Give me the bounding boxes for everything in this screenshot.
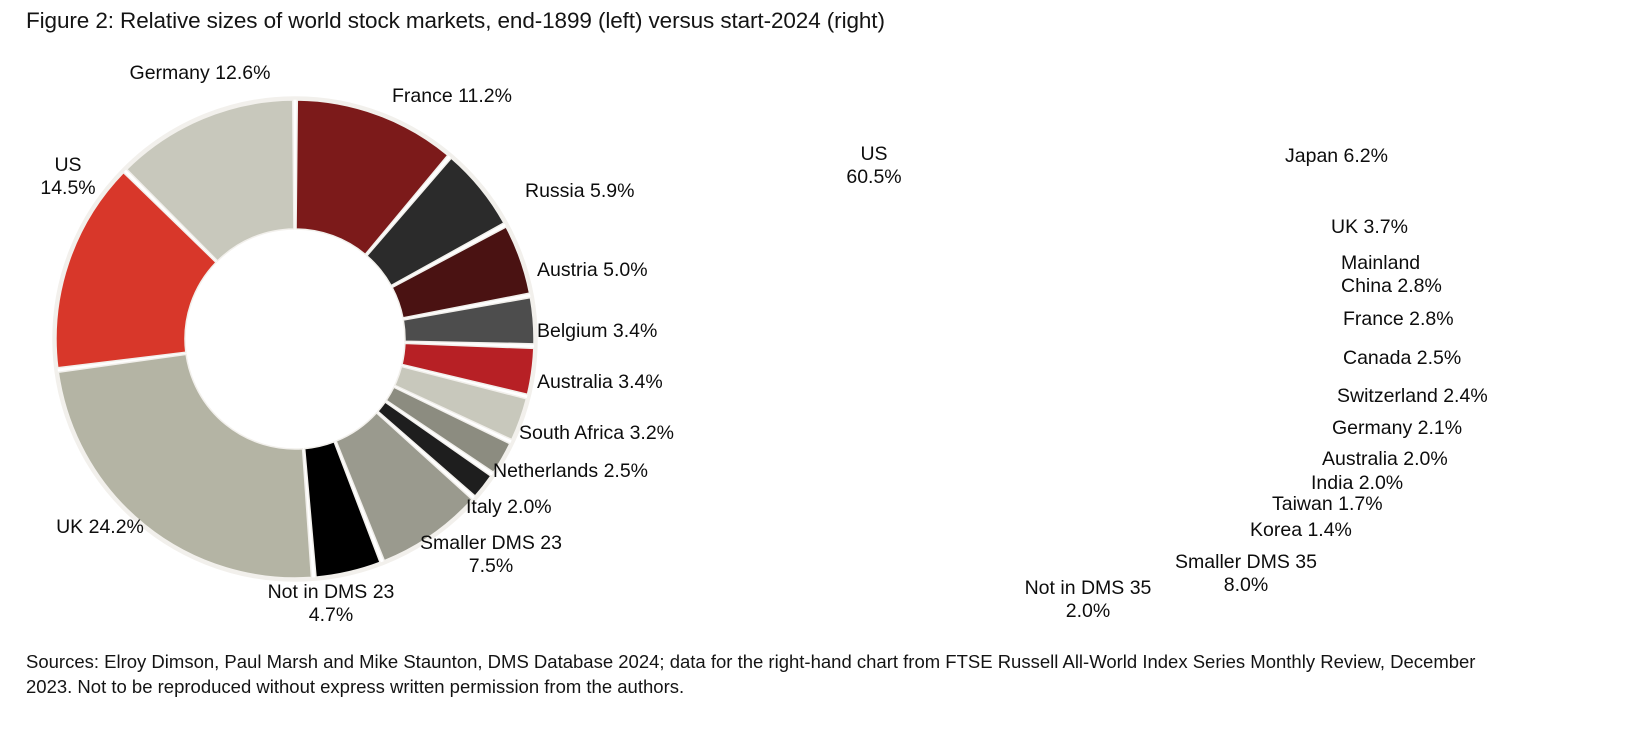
slice-label-line: Germany 12.6%	[0, 62, 400, 85]
slice-label-left-belgium: Belgium 3.4%	[537, 320, 657, 343]
slice-label-line: Austria 5.0%	[537, 259, 648, 282]
slice-label-left-netherlands: Netherlands 2.5%	[493, 460, 648, 483]
slice-label-left-russia: Russia 5.9%	[525, 180, 634, 203]
slice-label-right-india: India 2.0%	[1311, 472, 1403, 495]
slice-label-right-germany: Germany 2.1%	[1332, 417, 1462, 440]
slice-label-line: Germany 2.1%	[1332, 417, 1462, 440]
slice-label-line: 14.5%	[0, 177, 268, 200]
slice-label-right-not-in-dms-35: Not in DMS 352.0%	[888, 577, 1288, 622]
slice-label-left-france: France 11.2%	[252, 85, 652, 108]
slice-label-line: Not in DMS 23	[131, 581, 531, 604]
slice-label-left-uk: UK 24.2%	[0, 516, 300, 539]
slice-label-line: Korea 1.4%	[1250, 519, 1352, 542]
slice-label-line: France 2.8%	[1343, 308, 1454, 331]
slice-label-left-germany: Germany 12.6%	[0, 62, 400, 85]
slice-label-line: 2.0%	[888, 600, 1288, 623]
slice-label-line: Taiwan 1.7%	[1272, 493, 1383, 516]
slice-label-right-france: France 2.8%	[1343, 308, 1454, 331]
slice-label-line: India 2.0%	[1311, 472, 1403, 495]
slice-label-left-south-africa: South Africa 3.2%	[519, 422, 674, 445]
slice-label-line: France 11.2%	[252, 85, 652, 108]
slice-label-right-switzerland: Switzerland 2.4%	[1337, 385, 1488, 408]
slice-label-line: Smaller DMS 35	[1046, 551, 1446, 574]
slice-label-left-italy: Italy 2.0%	[466, 496, 552, 519]
slice-label-left-smaller-dms-23: Smaller DMS 237.5%	[291, 532, 691, 577]
slice-label-line: Switzerland 2.4%	[1337, 385, 1488, 408]
donut-svg-start-2024	[816, 0, 1632, 640]
slice-label-line: Italy 2.0%	[466, 496, 552, 519]
slice-label-right-korea: Korea 1.4%	[1250, 519, 1352, 542]
slice-label-line: 60.5%	[674, 166, 1074, 189]
slice-label-line: US	[0, 154, 268, 177]
slice-label-line: China 2.8%	[1341, 275, 1442, 298]
pie-slice-uk[interactable]	[58, 354, 311, 578]
slice-label-line: Smaller DMS 23	[291, 532, 691, 555]
donut-chart-start-2024	[816, 0, 1632, 640]
slice-label-line: 7.5%	[291, 555, 691, 578]
slice-label-line: Australia 2.0%	[1322, 448, 1448, 471]
slice-label-right-us: US60.5%	[674, 143, 1074, 188]
slice-label-line: Canada 2.5%	[1343, 347, 1461, 370]
slice-label-left-austria: Austria 5.0%	[537, 259, 648, 282]
slice-label-left-not-in-dms-23: Not in DMS 234.7%	[131, 581, 531, 626]
slice-label-line: Mainland	[1341, 252, 1442, 275]
slice-label-line: UK 24.2%	[0, 516, 300, 539]
slice-label-left-us: US14.5%	[0, 154, 268, 199]
sources-line-1: Sources: Elroy Dimson, Paul Marsh and Mi…	[26, 651, 1385, 672]
slice-label-line: Belgium 3.4%	[537, 320, 657, 343]
slice-label-line: Russia 5.9%	[525, 180, 634, 203]
slice-label-line: US	[674, 143, 1074, 166]
slice-label-line: 4.7%	[131, 604, 531, 627]
slice-label-right-canada: Canada 2.5%	[1343, 347, 1461, 370]
slice-label-right-mainland-china: MainlandChina 2.8%	[1341, 252, 1442, 297]
sources-note: Sources: Elroy Dimson, Paul Marsh and Mi…	[26, 650, 1496, 699]
slice-label-line: Not in DMS 35	[888, 577, 1288, 600]
slice-label-left-australia: Australia 3.4%	[537, 371, 663, 394]
slice-label-line: Japan 6.2%	[1285, 145, 1388, 168]
slice-label-right-uk: UK 3.7%	[1331, 216, 1408, 239]
slice-label-right-australia: Australia 2.0%	[1322, 448, 1448, 471]
slice-label-right-japan: Japan 6.2%	[1285, 145, 1388, 168]
slice-label-line: South Africa 3.2%	[519, 422, 674, 445]
slice-label-line: Australia 3.4%	[537, 371, 663, 394]
slice-label-right-taiwan: Taiwan 1.7%	[1272, 493, 1383, 516]
slice-label-line: UK 3.7%	[1331, 216, 1408, 239]
slice-label-line: Netherlands 2.5%	[493, 460, 648, 483]
